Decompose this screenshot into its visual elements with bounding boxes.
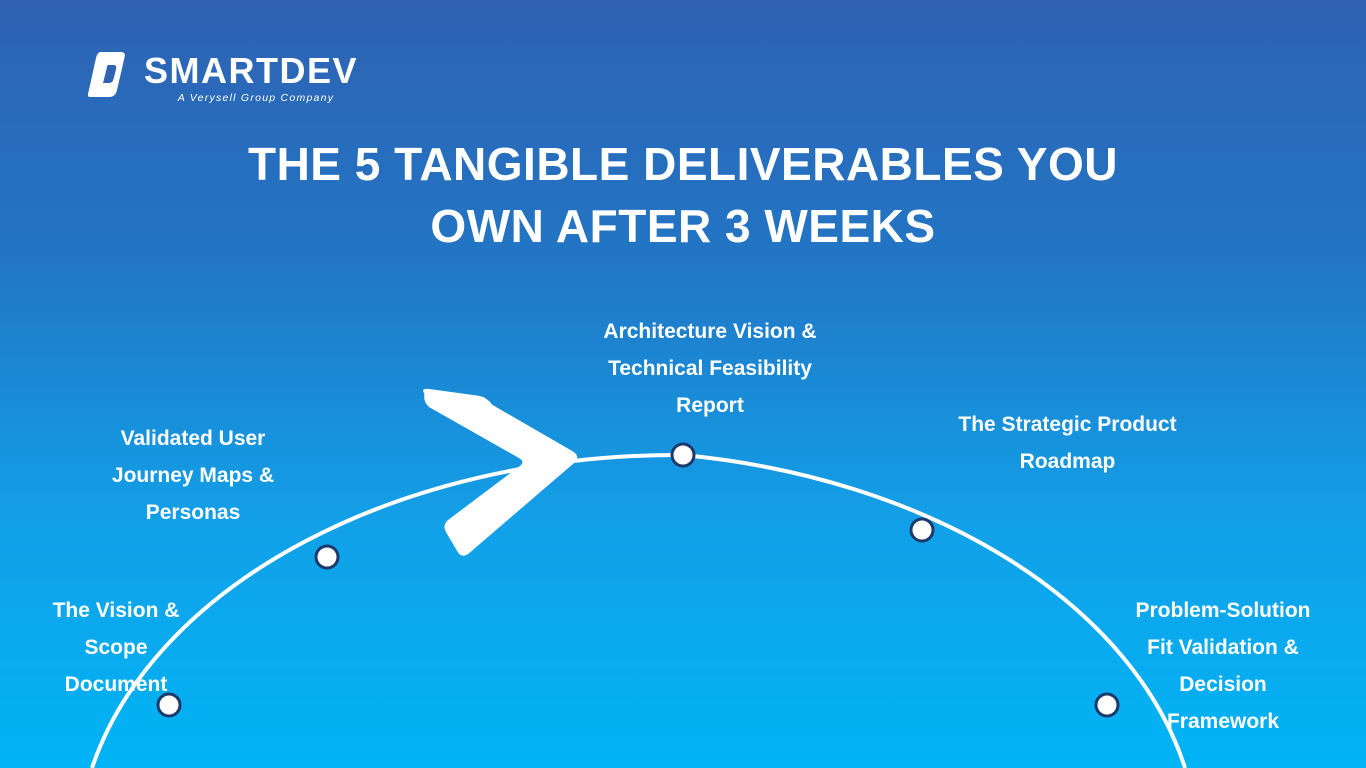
milestone-label-2-line-3: Personas <box>62 494 324 531</box>
milestone-label-2-line-1: Validated User <box>62 420 324 457</box>
milestone-label-5-line-1: Problem-Solution <box>1096 592 1350 629</box>
milestone-label-1-line-1: The Vision & <box>10 592 222 629</box>
milestone-label-3-line-1: Architecture Vision & <box>540 313 880 350</box>
milestone-node-2[interactable] <box>316 546 338 568</box>
milestone-node-4[interactable] <box>911 519 933 541</box>
milestone-label-3-line-2: Technical Feasibility <box>540 350 880 387</box>
milestone-label-5-line-3: Decision <box>1096 666 1350 703</box>
milestone-label-4-line-1: The Strategic Product <box>900 406 1235 443</box>
milestone-label-4: The Strategic Product Roadmap <box>900 406 1235 480</box>
milestone-label-2: Validated User Journey Maps & Personas <box>62 420 324 531</box>
milestone-label-1-line-3: Document <box>10 666 222 703</box>
milestone-label-1-line-2: Scope <box>10 629 222 666</box>
milestone-label-3-line-3: Report <box>540 387 880 424</box>
milestone-label-3: Architecture Vision & Technical Feasibil… <box>540 313 880 424</box>
milestone-label-4-line-2: Roadmap <box>900 443 1235 480</box>
milestone-label-5-line-4: Framework <box>1096 703 1350 740</box>
milestone-label-5-line-2: Fit Validation & <box>1096 629 1350 666</box>
milestone-label-5: Problem-Solution Fit Validation & Decisi… <box>1096 592 1350 740</box>
milestone-node-3[interactable] <box>672 444 694 466</box>
milestone-label-1: The Vision & Scope Document <box>10 592 222 703</box>
milestone-label-2-line-2: Journey Maps & <box>62 457 324 494</box>
